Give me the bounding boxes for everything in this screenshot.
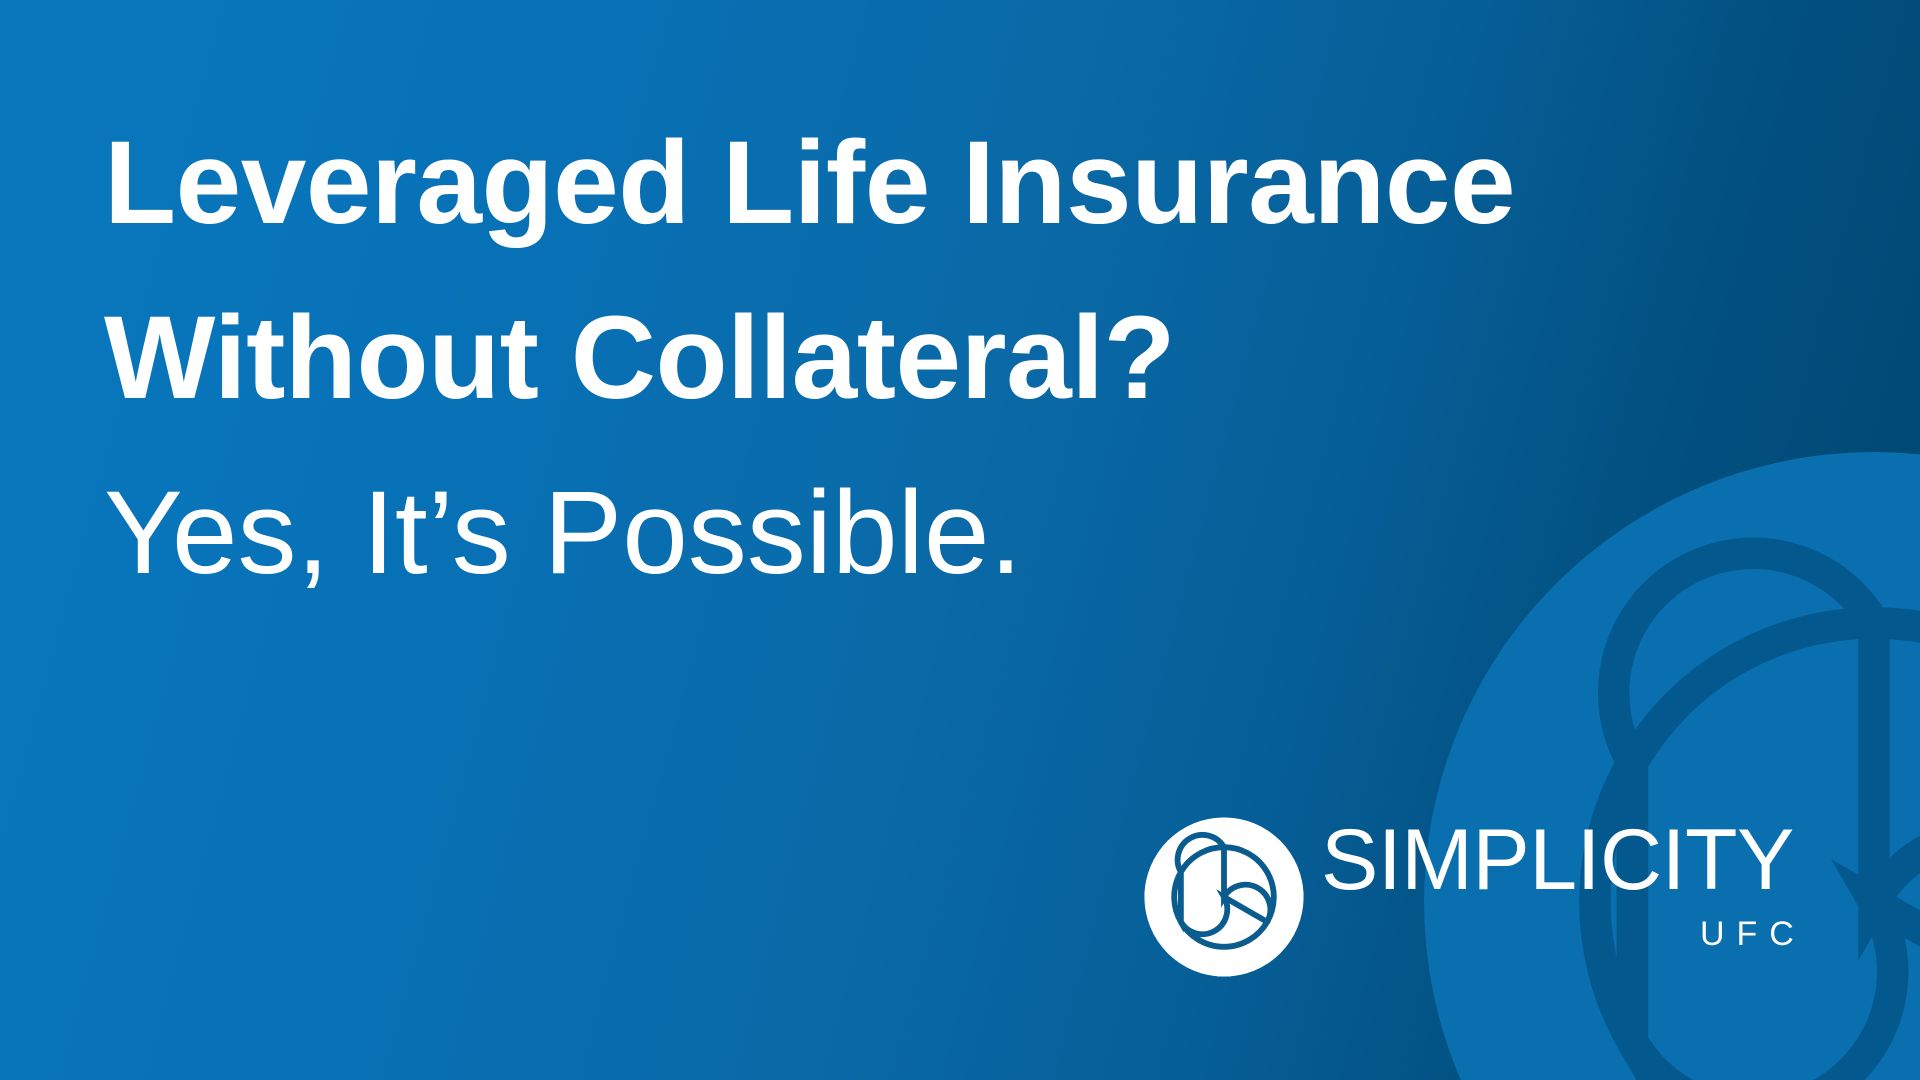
headline-line-3: Yes, It’s Possible. [104,446,1804,621]
headline-line-1: Leveraged Life Insurance [104,96,1804,271]
simplicity-triskelion-icon [1141,814,1307,980]
promo-banner: Leveraged Life Insurance Without Collate… [0,0,1920,1080]
logo-subbrand: UFC [1700,914,1806,954]
logo-text-block: SIMPLICITY UFC [1321,812,1794,954]
logo-wordmark: SIMPLICITY [1321,812,1794,908]
headline-block: Leveraged Life Insurance Without Collate… [104,96,1804,621]
headline-line-2: Without Collateral? [104,271,1804,446]
simplicity-ufc-logo: SIMPLICITY UFC [1141,812,1794,980]
